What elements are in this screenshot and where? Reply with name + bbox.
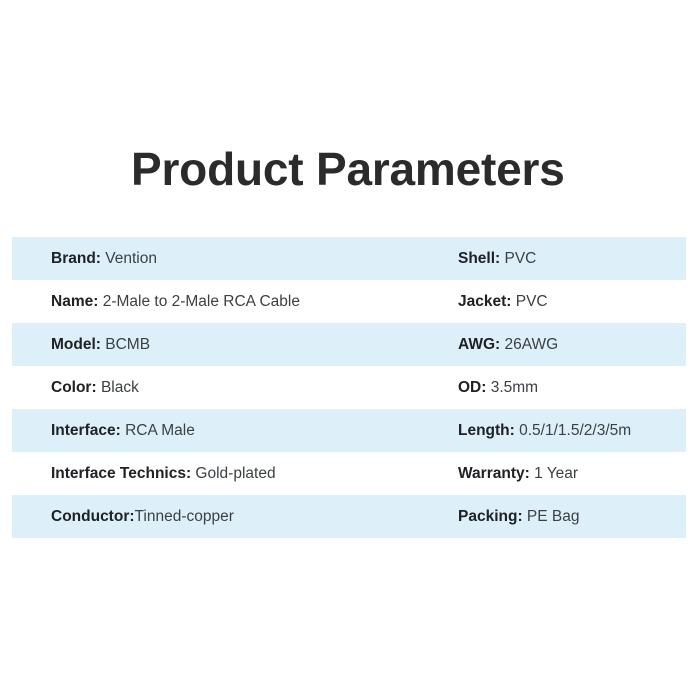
table-row: Name: 2-Male to 2-Male RCA Cable Jacket:…	[12, 280, 686, 323]
param-value: Tinned-copper	[135, 508, 234, 525]
param-label: Packing:	[458, 508, 523, 525]
param-label: Name:	[51, 293, 98, 310]
param-label: Length:	[458, 422, 515, 439]
param-label: Color:	[51, 379, 97, 396]
param-label: Interface:	[51, 422, 121, 439]
param-value: 3.5mm	[486, 379, 538, 396]
param-cell-right: Length: 0.5/1/1.5/2/3/5m	[441, 421, 686, 441]
param-cell-right: Warranty: 1 Year	[441, 464, 686, 484]
param-cell-right: AWG: 26AWG	[441, 335, 686, 355]
param-value: Gold-plated	[191, 465, 275, 482]
param-cell-left: Model: BCMB	[12, 335, 441, 355]
table-row: Interface Technics: Gold-plated Warranty…	[12, 452, 686, 495]
param-label: Shell:	[458, 250, 500, 267]
table-row: Conductor:Tinned-copper Packing: PE Bag	[12, 495, 686, 538]
param-value: 26AWG	[500, 336, 558, 353]
page-title: Product Parameters	[131, 141, 565, 197]
param-value: BCMB	[101, 336, 150, 353]
param-label: Jacket:	[458, 293, 511, 310]
param-value: RCA Male	[121, 422, 195, 439]
param-value: PE Bag	[523, 508, 580, 525]
param-cell-right: Packing: PE Bag	[441, 507, 686, 527]
param-value: 0.5/1/1.5/2/3/5m	[515, 422, 631, 439]
param-value: 1 Year	[530, 465, 578, 482]
param-label: Model:	[51, 336, 101, 353]
param-label: Interface Technics:	[51, 465, 191, 482]
param-cell-left: Interface Technics: Gold-plated	[12, 464, 441, 484]
param-cell-right: Jacket: PVC	[441, 292, 686, 312]
param-value: Black	[97, 379, 139, 396]
param-cell-left: Color: Black	[12, 378, 441, 398]
table-row: Color: Black OD: 3.5mm	[12, 366, 686, 409]
param-label: Brand:	[51, 250, 101, 267]
param-cell-right: Shell: PVC	[441, 249, 686, 269]
param-value: Vention	[101, 250, 157, 267]
param-label: AWG:	[458, 336, 500, 353]
param-label: Conductor:	[51, 508, 135, 525]
product-parameters-page: Product Parameters Brand: Vention Shell:…	[0, 0, 700, 700]
param-value: PVC	[511, 293, 547, 310]
param-cell-left: Name: 2-Male to 2-Male RCA Cable	[12, 292, 441, 312]
param-cell-left: Conductor:Tinned-copper	[12, 507, 441, 527]
param-cell-right: OD: 3.5mm	[441, 378, 686, 398]
param-label: Warranty:	[458, 465, 530, 482]
table-row: Model: BCMB AWG: 26AWG	[12, 323, 686, 366]
param-value: PVC	[500, 250, 536, 267]
param-value: 2-Male to 2-Male RCA Cable	[98, 293, 300, 310]
param-cell-left: Interface: RCA Male	[12, 421, 441, 441]
parameters-table: Brand: Vention Shell: PVC Name: 2-Male t…	[12, 237, 686, 538]
param-label: OD:	[458, 379, 486, 396]
table-row: Interface: RCA Male Length: 0.5/1/1.5/2/…	[12, 409, 686, 452]
table-row: Brand: Vention Shell: PVC	[12, 237, 686, 280]
param-cell-left: Brand: Vention	[12, 249, 441, 269]
